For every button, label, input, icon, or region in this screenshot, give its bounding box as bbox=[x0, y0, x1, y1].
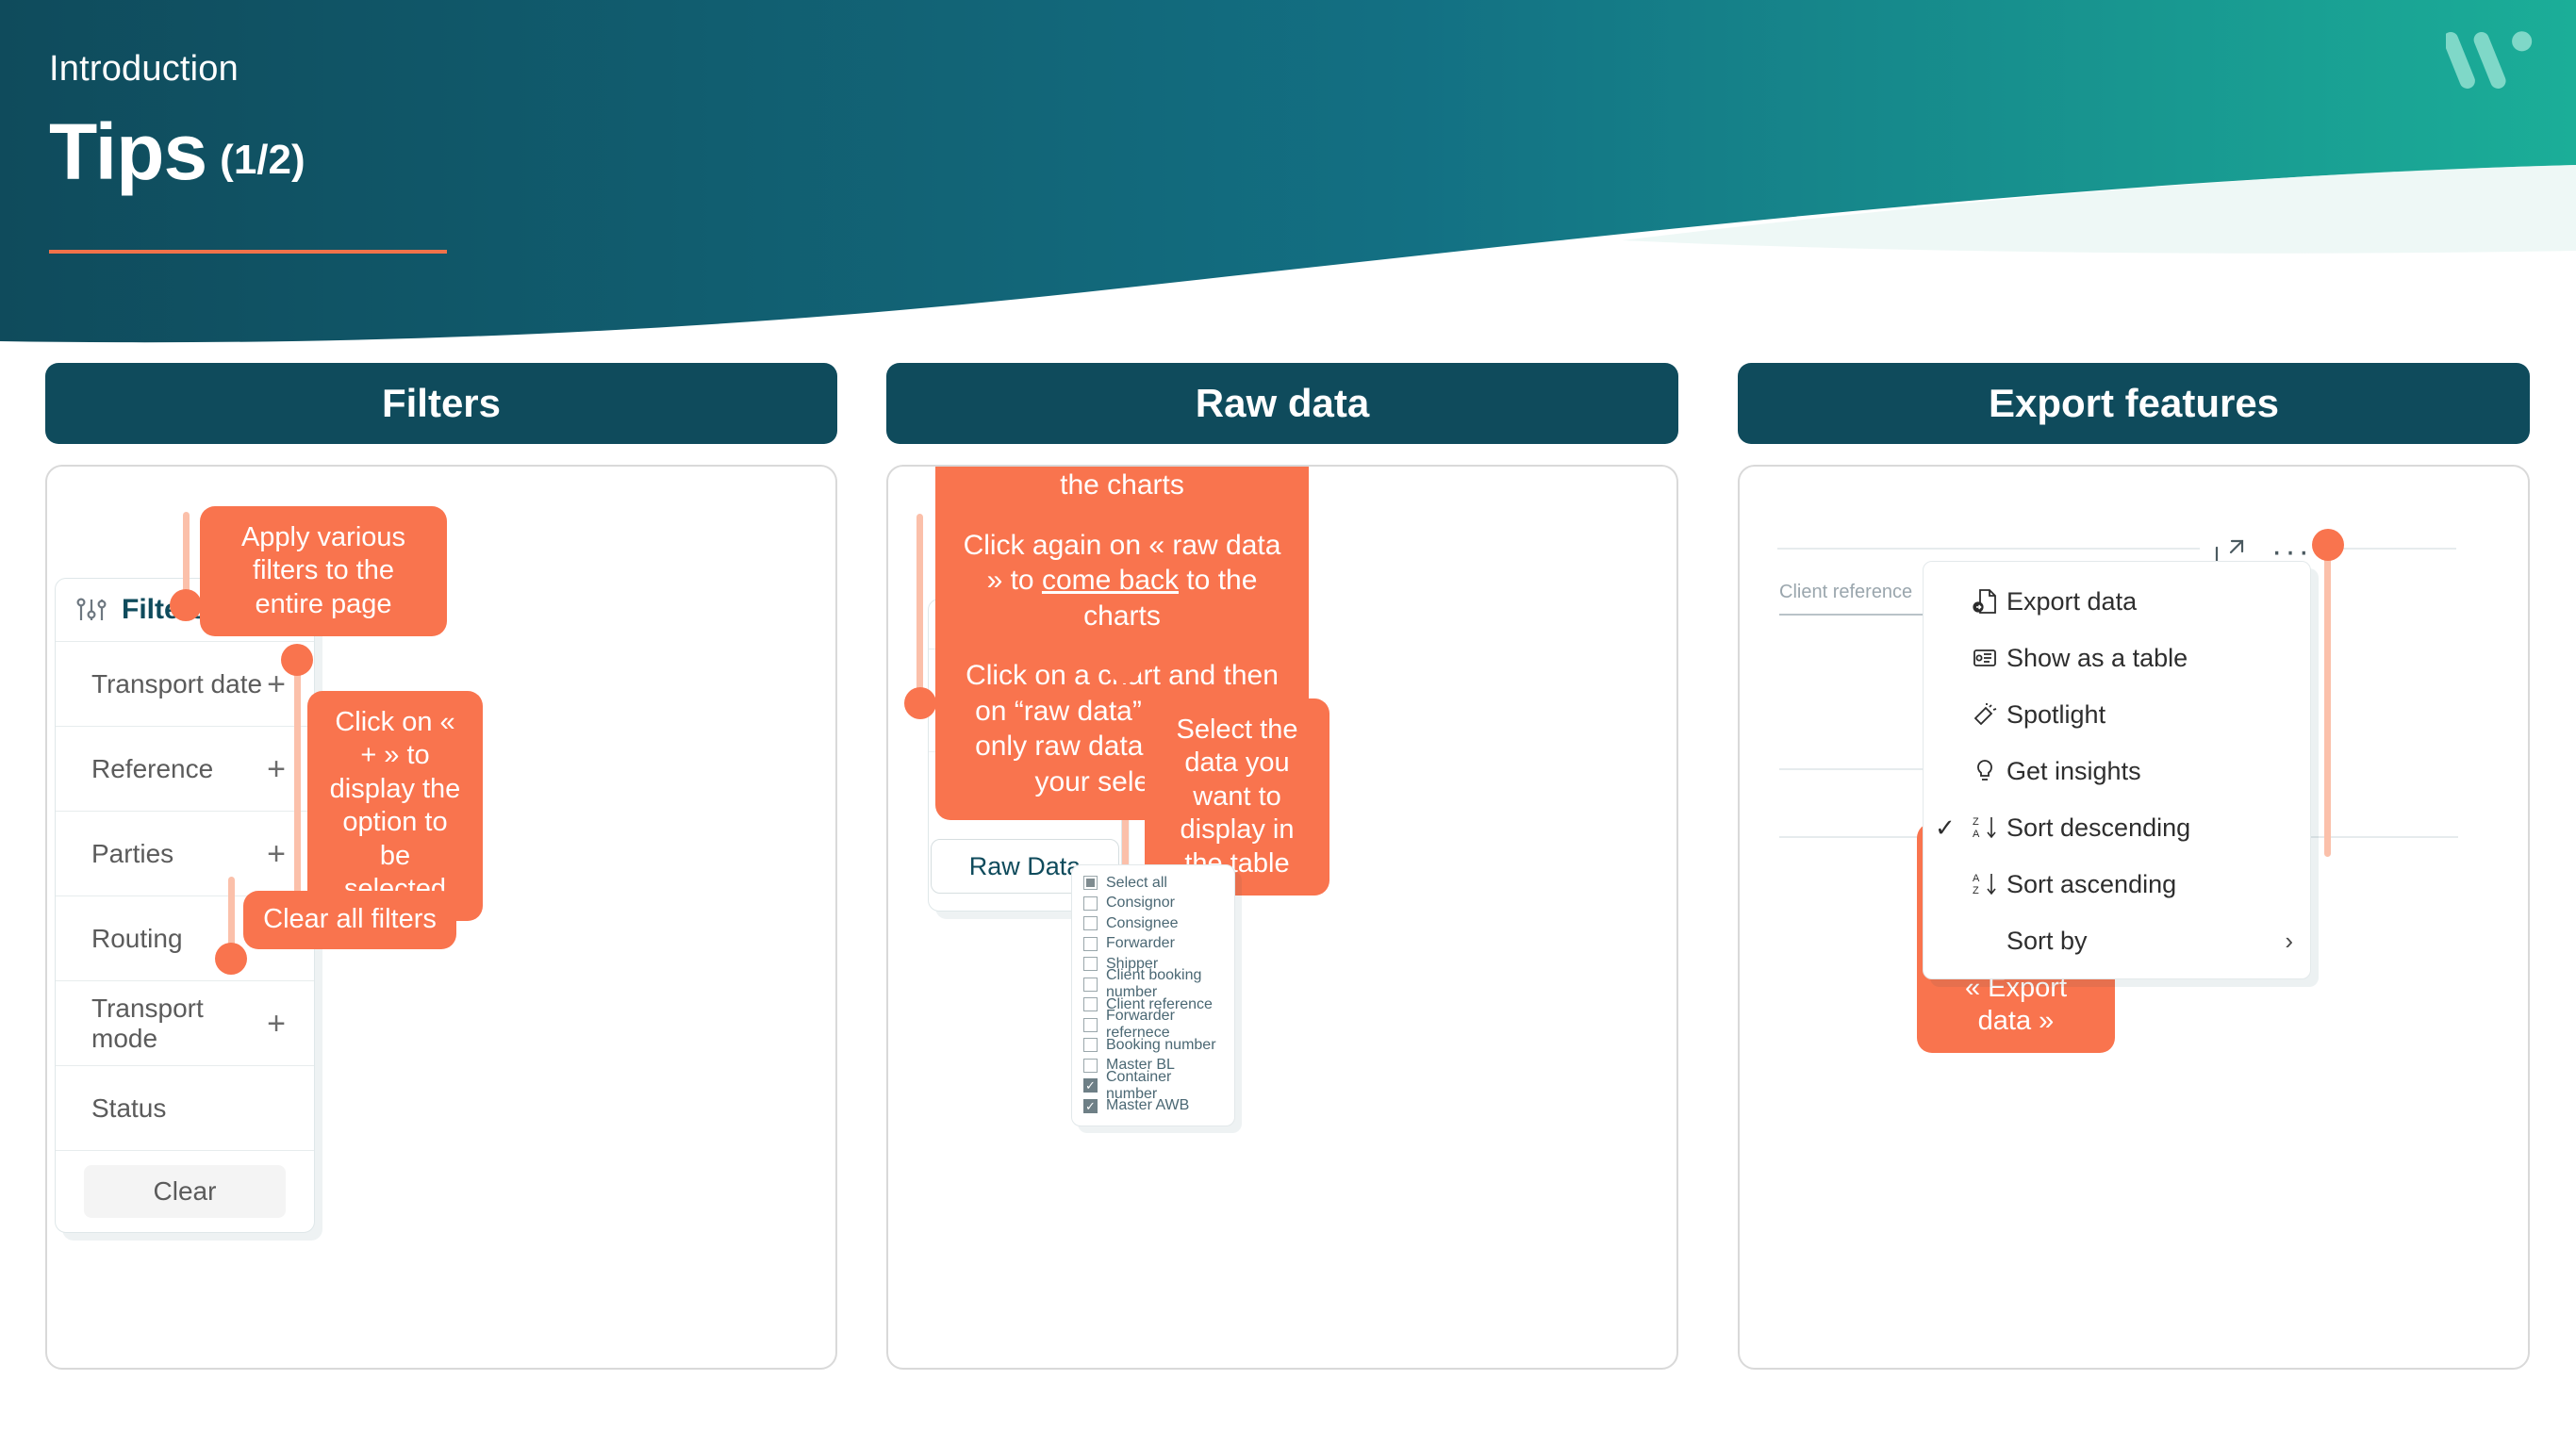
page-title: Tips bbox=[49, 115, 206, 190]
menu-item-label: Spotlight bbox=[2006, 700, 2293, 730]
callout-line-1: Click “Raw Data” to display all the data… bbox=[958, 465, 1286, 503]
checklist-item[interactable]: Select all bbox=[1083, 873, 1225, 894]
more-options-icon[interactable]: ··· bbox=[2271, 546, 2312, 559]
filter-row[interactable]: Status bbox=[56, 1066, 314, 1151]
checkbox-icon[interactable] bbox=[1083, 1059, 1098, 1073]
filters-widget-footer: Clear bbox=[56, 1151, 314, 1232]
raw-data-field-checklist[interactable]: Select all Consignor Consignee Forwarder… bbox=[1071, 864, 1235, 1126]
menu-item-label: Get insights bbox=[2006, 757, 2293, 786]
filter-row-label: Transport date bbox=[91, 669, 262, 699]
checkbox-partial-icon[interactable] bbox=[1083, 876, 1098, 890]
column-raw-data: Raw data Click “Raw Data” to display all… bbox=[886, 363, 1678, 1370]
anchor-dot-clear bbox=[215, 943, 247, 975]
filter-row[interactable]: Parties + bbox=[56, 812, 314, 896]
leader-line-raw-data-top bbox=[916, 514, 923, 702]
checklist-item-label: Consignee bbox=[1106, 915, 1179, 932]
page-title-suffix: (1/2) bbox=[220, 137, 305, 184]
checkbox-icon[interactable] bbox=[1083, 957, 1098, 971]
checklist-item-label: Forwarder bbox=[1106, 935, 1175, 952]
checkbox-icon[interactable] bbox=[1083, 978, 1098, 992]
checkbox-checked-icon[interactable]: ✓ bbox=[1083, 1078, 1098, 1093]
menu-item-export-data[interactable]: Export data bbox=[1924, 573, 2310, 630]
checklist-item-label: Booking number bbox=[1106, 1037, 1216, 1054]
anchor-dot-apply bbox=[170, 589, 202, 621]
header-title-row: Tips (1/2) bbox=[49, 115, 305, 190]
menu-item-spotlight[interactable]: Spotlight bbox=[1924, 686, 2310, 743]
svg-text:Z: Z bbox=[1973, 885, 1979, 896]
menu-item-get-insights[interactable]: Get insights bbox=[1924, 743, 2310, 799]
column-body-raw-data: Click “Raw Data” to display all the data… bbox=[886, 465, 1678, 1370]
svg-text:A: A bbox=[1973, 829, 1980, 840]
checkbox-icon[interactable] bbox=[1083, 896, 1098, 911]
checklist-item[interactable]: Client booking number bbox=[1083, 975, 1225, 995]
lightbulb-icon bbox=[1963, 758, 2006, 784]
menu-item-label: Export data bbox=[2006, 587, 2293, 616]
menu-item-label: Show as a table bbox=[2006, 644, 2293, 673]
callout-line-2-underline: come back bbox=[1042, 565, 1179, 596]
column-body-filters: Apply various filters to the entire page… bbox=[45, 465, 837, 1370]
title-underline bbox=[49, 250, 447, 254]
column-export-features: Export features Client reference Forward… bbox=[1738, 363, 2530, 1370]
header-background-wave bbox=[0, 0, 2576, 349]
plus-icon[interactable]: + bbox=[267, 838, 286, 870]
checklist-item[interactable]: Consignor bbox=[1083, 894, 1225, 914]
spotlight-icon bbox=[1963, 701, 2006, 728]
column-heading-filters: Filters bbox=[45, 363, 837, 444]
checklist-item-label: Master AWB bbox=[1106, 1097, 1189, 1114]
callout-click-plus: Click on « + » to display the option to … bbox=[307, 691, 483, 921]
callout-line-1-post: to display all the data behind the chart… bbox=[959, 465, 1286, 501]
filter-row-label: Transport mode bbox=[91, 994, 267, 1054]
anchor-dot-select bbox=[1109, 651, 1141, 683]
anchor-dot-more-options bbox=[2312, 529, 2344, 561]
checkbox-icon[interactable] bbox=[1083, 997, 1098, 1011]
column-body-export: Client reference Forwarder refern ··· bbox=[1738, 465, 2530, 1370]
sort-descending-icon: Z A bbox=[1963, 813, 2006, 842]
menu-item-sort-by[interactable]: Sort by › bbox=[1924, 912, 2310, 969]
slide-root: Introduction Tips (1/2) Filters Apply va… bbox=[0, 0, 2576, 1446]
filter-row[interactable]: Transport date + bbox=[56, 642, 314, 727]
checklist-item[interactable]: Forwarder bbox=[1083, 934, 1225, 955]
slide-header: Introduction Tips (1/2) bbox=[0, 0, 2576, 349]
table-top-rule bbox=[1777, 548, 2456, 550]
chevron-right-icon[interactable]: › bbox=[2285, 927, 2293, 956]
callout-line-2: Click again on « raw data » to come back… bbox=[958, 528, 1286, 634]
checkbox-icon[interactable] bbox=[1083, 937, 1098, 951]
checkbox-icon[interactable] bbox=[1083, 1018, 1098, 1032]
column-heading-export: Export features bbox=[1738, 363, 2530, 444]
menu-item-sort-descending[interactable]: ✓ Z A Sort descending bbox=[1924, 799, 2310, 856]
table-context-menu[interactable]: Export data Show as a table bbox=[1923, 561, 2311, 979]
export-data-icon bbox=[1963, 587, 2006, 616]
checklist-item[interactable]: Consignee bbox=[1083, 913, 1225, 934]
menu-item-label: Sort descending bbox=[2006, 813, 2293, 843]
clear-filters-button[interactable]: Clear bbox=[84, 1165, 287, 1218]
menu-checkmark-icon: ✓ bbox=[1935, 813, 1963, 843]
checkbox-icon[interactable] bbox=[1083, 916, 1098, 930]
checkbox-icon[interactable] bbox=[1083, 1038, 1098, 1052]
anchor-dot-raw-data bbox=[904, 687, 936, 719]
filter-row-label: Reference bbox=[91, 754, 213, 784]
checklist-item[interactable]: Forwarder refernece bbox=[1083, 1015, 1225, 1036]
filter-row[interactable]: Transport mode + bbox=[56, 981, 314, 1066]
leader-line-export bbox=[2324, 546, 2331, 857]
column-heading-raw-data: Raw data bbox=[886, 363, 1678, 444]
callout-clear-all-filters: Clear all filters bbox=[243, 891, 456, 949]
svg-text:A: A bbox=[1973, 873, 1980, 884]
callout-apply-filters: Apply various filters to the entire page bbox=[200, 506, 447, 636]
checklist-item-label: Consignor bbox=[1106, 895, 1175, 912]
leader-line-clear bbox=[228, 877, 235, 952]
table-header-cell: Client reference bbox=[1779, 582, 1912, 602]
plus-icon[interactable]: + bbox=[267, 668, 286, 700]
show-as-table-icon bbox=[1963, 645, 2006, 671]
menu-item-sort-ascending[interactable]: A Z Sort ascending bbox=[1924, 856, 2310, 912]
anchor-dot-plus bbox=[281, 644, 313, 676]
svg-text:Z: Z bbox=[1973, 816, 1979, 828]
callout-gap-1 bbox=[958, 503, 1286, 528]
menu-item-show-as-table[interactable]: Show as a table bbox=[1924, 630, 2310, 686]
menu-item-label: Sort by bbox=[2006, 927, 2285, 956]
leader-line-plus bbox=[294, 655, 301, 900]
checklist-item[interactable]: ✓Container number bbox=[1083, 1076, 1225, 1096]
checkbox-checked-icon[interactable]: ✓ bbox=[1083, 1099, 1098, 1113]
header-eyebrow: Introduction bbox=[49, 49, 239, 90]
wakeo-w-logo bbox=[2446, 23, 2536, 96]
plus-icon[interactable]: + bbox=[267, 753, 286, 785]
checklist-item[interactable]: Booking number bbox=[1083, 1035, 1225, 1056]
filter-row-label: Routing bbox=[91, 924, 183, 954]
sort-ascending-icon: A Z bbox=[1963, 870, 2006, 898]
sliders-icon bbox=[76, 596, 108, 624]
filter-row-label: Status bbox=[91, 1093, 166, 1124]
checklist-item-label: Select all bbox=[1106, 875, 1167, 892]
column-filters: Filters Apply various filters to the ent… bbox=[45, 363, 837, 1370]
plus-icon[interactable]: + bbox=[267, 1008, 286, 1040]
filter-row[interactable]: Reference + bbox=[56, 727, 314, 812]
menu-item-label: Sort ascending bbox=[2006, 870, 2293, 899]
filter-row-label: Parties bbox=[91, 839, 173, 869]
